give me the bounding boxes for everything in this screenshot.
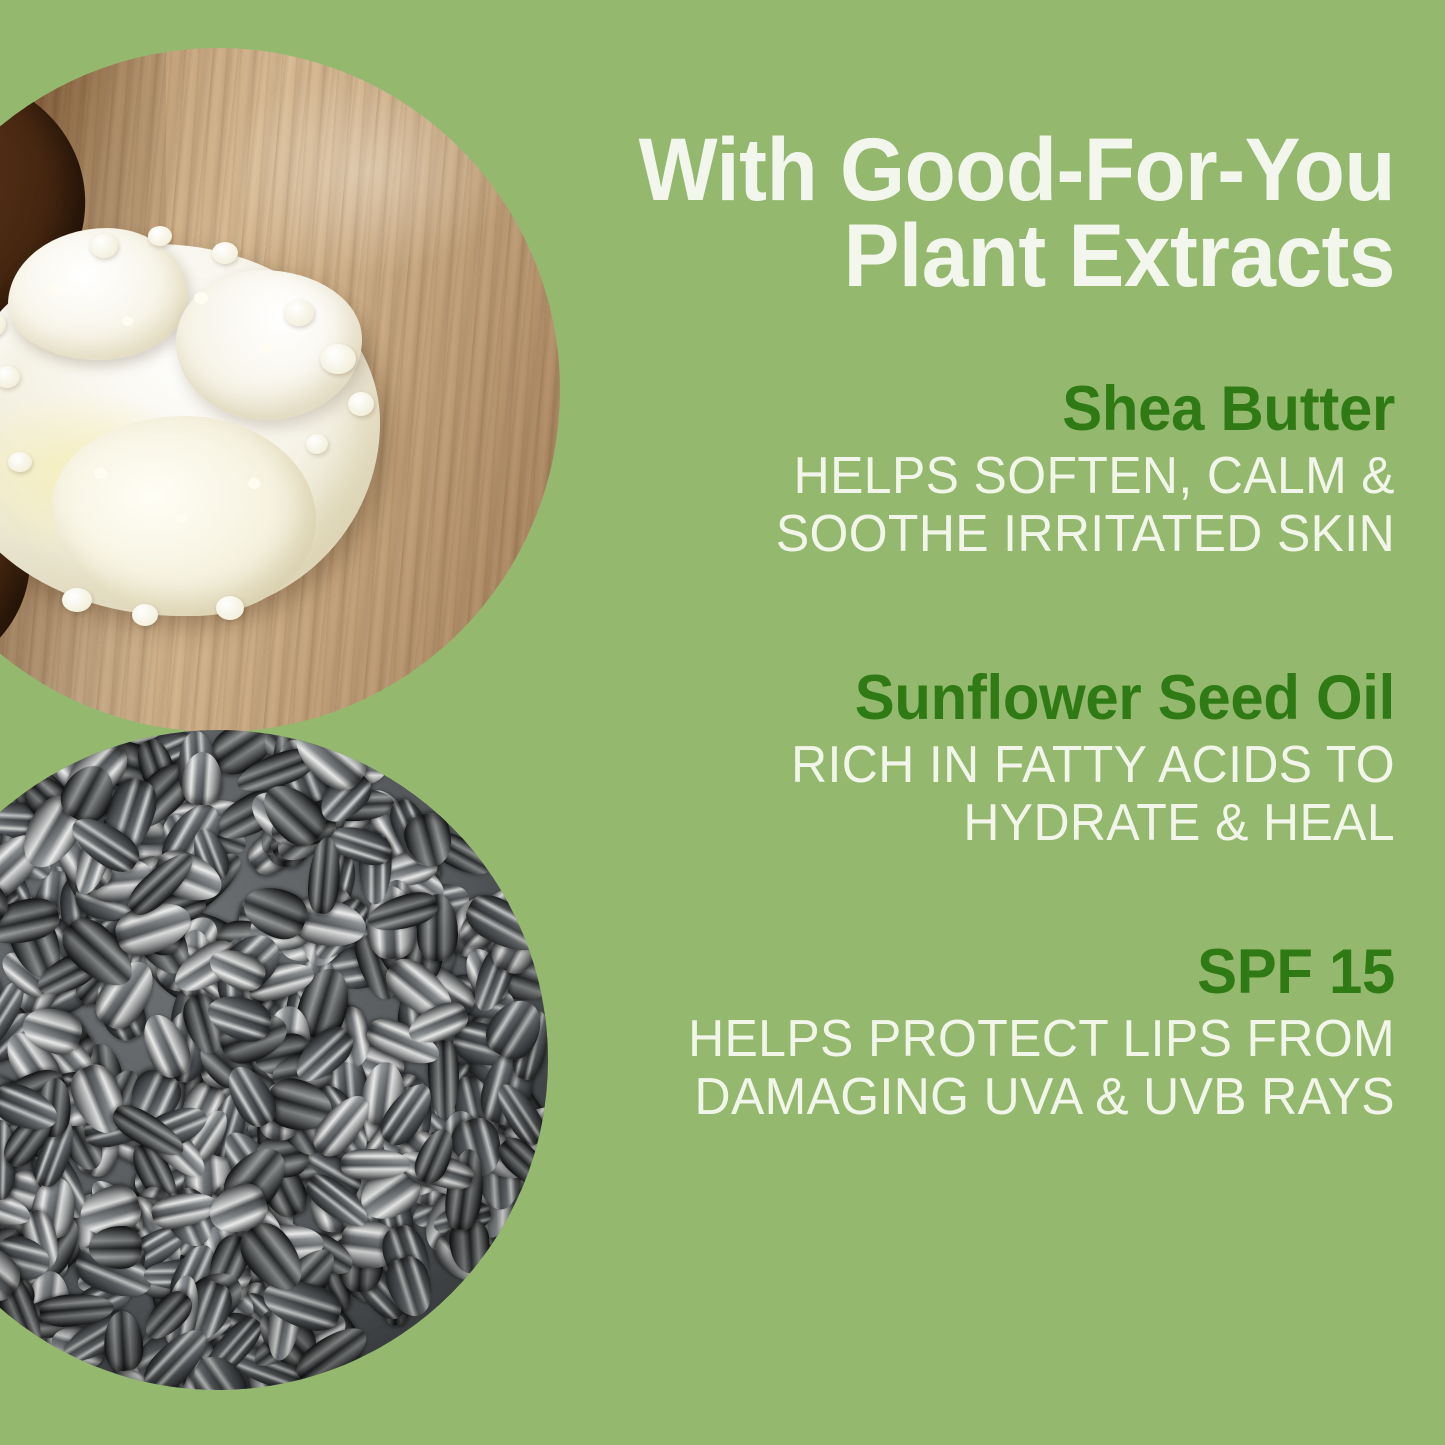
butter-highlight [260,344,272,354]
benefit-description-line: DAMAGING UVA & UVB RAYS [589,1068,1395,1126]
shea-butter-crumb [90,234,118,258]
shea-butter-crumb [216,596,244,620]
butter-highlight [176,514,187,523]
shea-butter-crumb [8,452,32,472]
shea-butter-photo [0,48,560,732]
page-title-line-2: Plant Extracts [605,212,1395,298]
butter-highlight [248,478,260,489]
benefit-item-shea-butter: Shea Butter HELPS SOFTEN, CALM & SOOTHE … [555,377,1395,563]
copy-column: With Good-For-You Plant Extracts Shea Bu… [555,0,1395,1445]
page-title: With Good-For-You Plant Extracts [605,126,1395,299]
sunflower-seeds-photo [0,730,548,1390]
benefit-description-line: HYDRATE & HEAL [589,794,1395,852]
benefit-description-line: SOOTHE IRRITATED SKIN [589,505,1395,563]
benefit-title: SPF 15 [597,940,1395,1006]
butter-highlight [194,292,208,304]
shea-butter-crumb [62,588,92,612]
shea-butter-crumb [148,226,172,246]
benefit-description-line: HELPS PROTECT LIPS FROM [589,1010,1395,1068]
shea-butter-crumb [320,344,356,374]
benefit-description-line: HELPS SOFTEN, CALM & [589,447,1395,505]
butter-highlight [122,316,133,326]
shea-butter-crumb [306,434,328,454]
shea-butter-crumb [132,604,158,626]
benefit-item-spf-15: SPF 15 HELPS PROTECT LIPS FROM DAMAGING … [555,940,1395,1126]
butter-highlight [48,284,61,295]
page-title-line-1: With Good-For-You [605,126,1395,212]
benefit-description-line: RICH IN FATTY ACIDS TO [589,736,1395,794]
benefit-description: HELPS PROTECT LIPS FROM DAMAGING UVA & U… [589,1010,1395,1126]
product-benefits-poster: With Good-For-You Plant Extracts Shea Bu… [0,0,1445,1445]
benefit-description: RICH IN FATTY ACIDS TO HYDRATE & HEAL [589,736,1395,852]
benefit-description: HELPS SOFTEN, CALM & SOOTHE IRRITATED SK… [589,447,1395,563]
shea-butter-crumb [348,392,374,416]
benefit-title: Sunflower Seed Oil [597,666,1395,732]
benefit-item-sunflower-seed-oil: Sunflower Seed Oil RICH IN FATTY ACIDS T… [555,666,1395,852]
butter-highlight [94,468,107,479]
shea-butter-crumb [284,300,314,326]
benefit-title: Shea Butter [597,377,1395,443]
shea-butter-crumb [212,242,238,264]
